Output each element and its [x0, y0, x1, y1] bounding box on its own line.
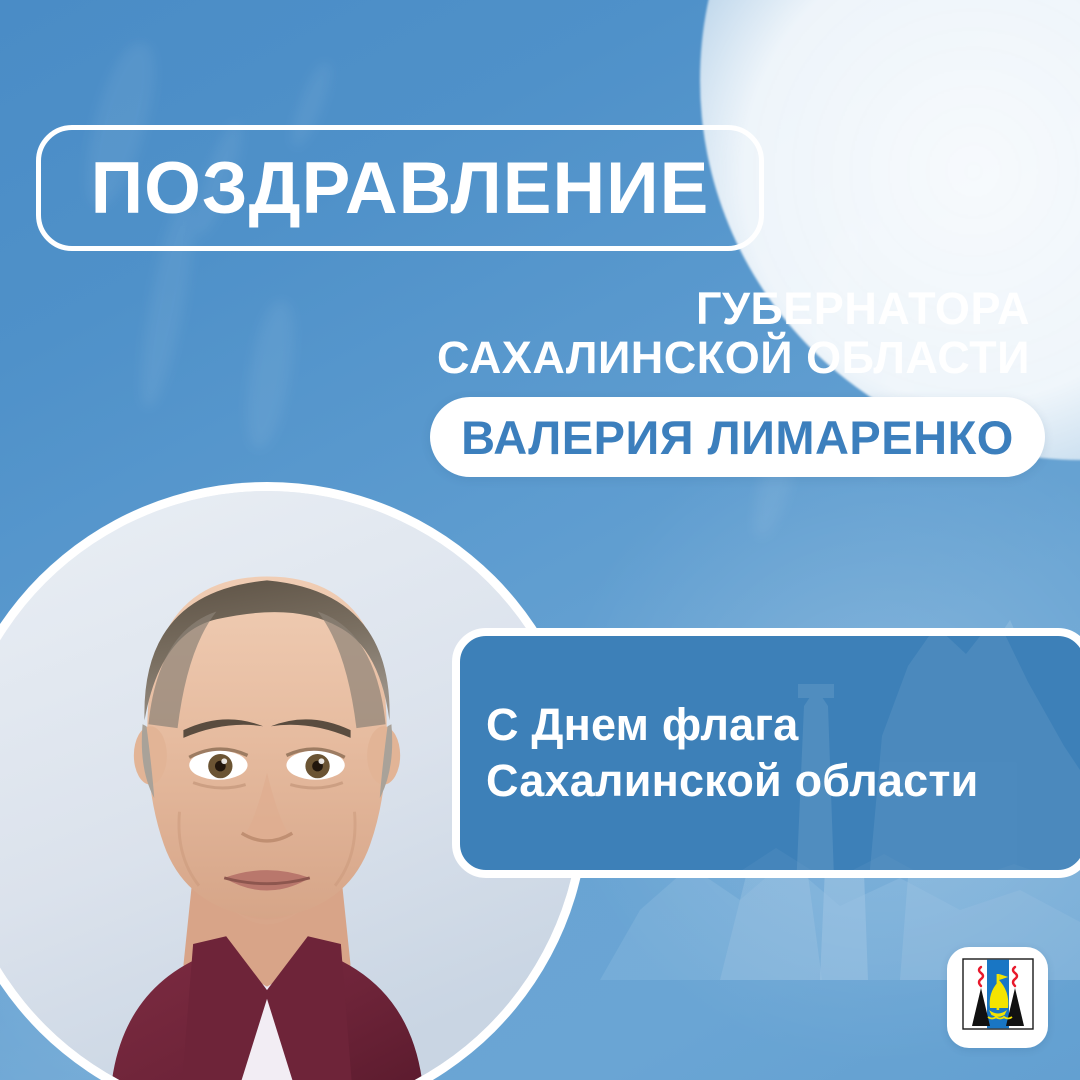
- poster-title-box: ПОЗДРАВЛЕНИЕ: [36, 125, 764, 251]
- message-text: С Днем флага Сахалинской области: [460, 697, 978, 809]
- subtitle-line-1: ГУБЕРНАТОРА: [696, 283, 1030, 334]
- page-title: ПОЗДРАВЛЕНИЕ: [91, 152, 710, 225]
- message-line-1: С Днем флага: [486, 697, 978, 753]
- congratulation-poster: ПОЗДРАВЛЕНИЕ ГУБЕРНАТОРА САХАЛИНСКОЙ ОБЛ…: [0, 0, 1080, 1080]
- message-line-2: Сахалинской области: [486, 753, 978, 809]
- sakhalin-coat-of-arms-badge: [947, 947, 1048, 1048]
- subtitle-block: ГУБЕРНАТОРА САХАЛИНСКОЙ ОБЛАСТИ: [300, 285, 1030, 382]
- subtitle-line-2: САХАЛИНСКОЙ ОБЛАСТИ: [300, 334, 1030, 383]
- message-card: С Днем флага Сахалинской области: [452, 628, 1080, 878]
- governor-name-pill: ВАЛЕРИЯ ЛИМАРЕНКО: [430, 397, 1045, 477]
- governor-name: ВАЛЕРИЯ ЛИМАРЕНКО: [461, 414, 1014, 461]
- coat-of-arms-icon: [962, 958, 1034, 1038]
